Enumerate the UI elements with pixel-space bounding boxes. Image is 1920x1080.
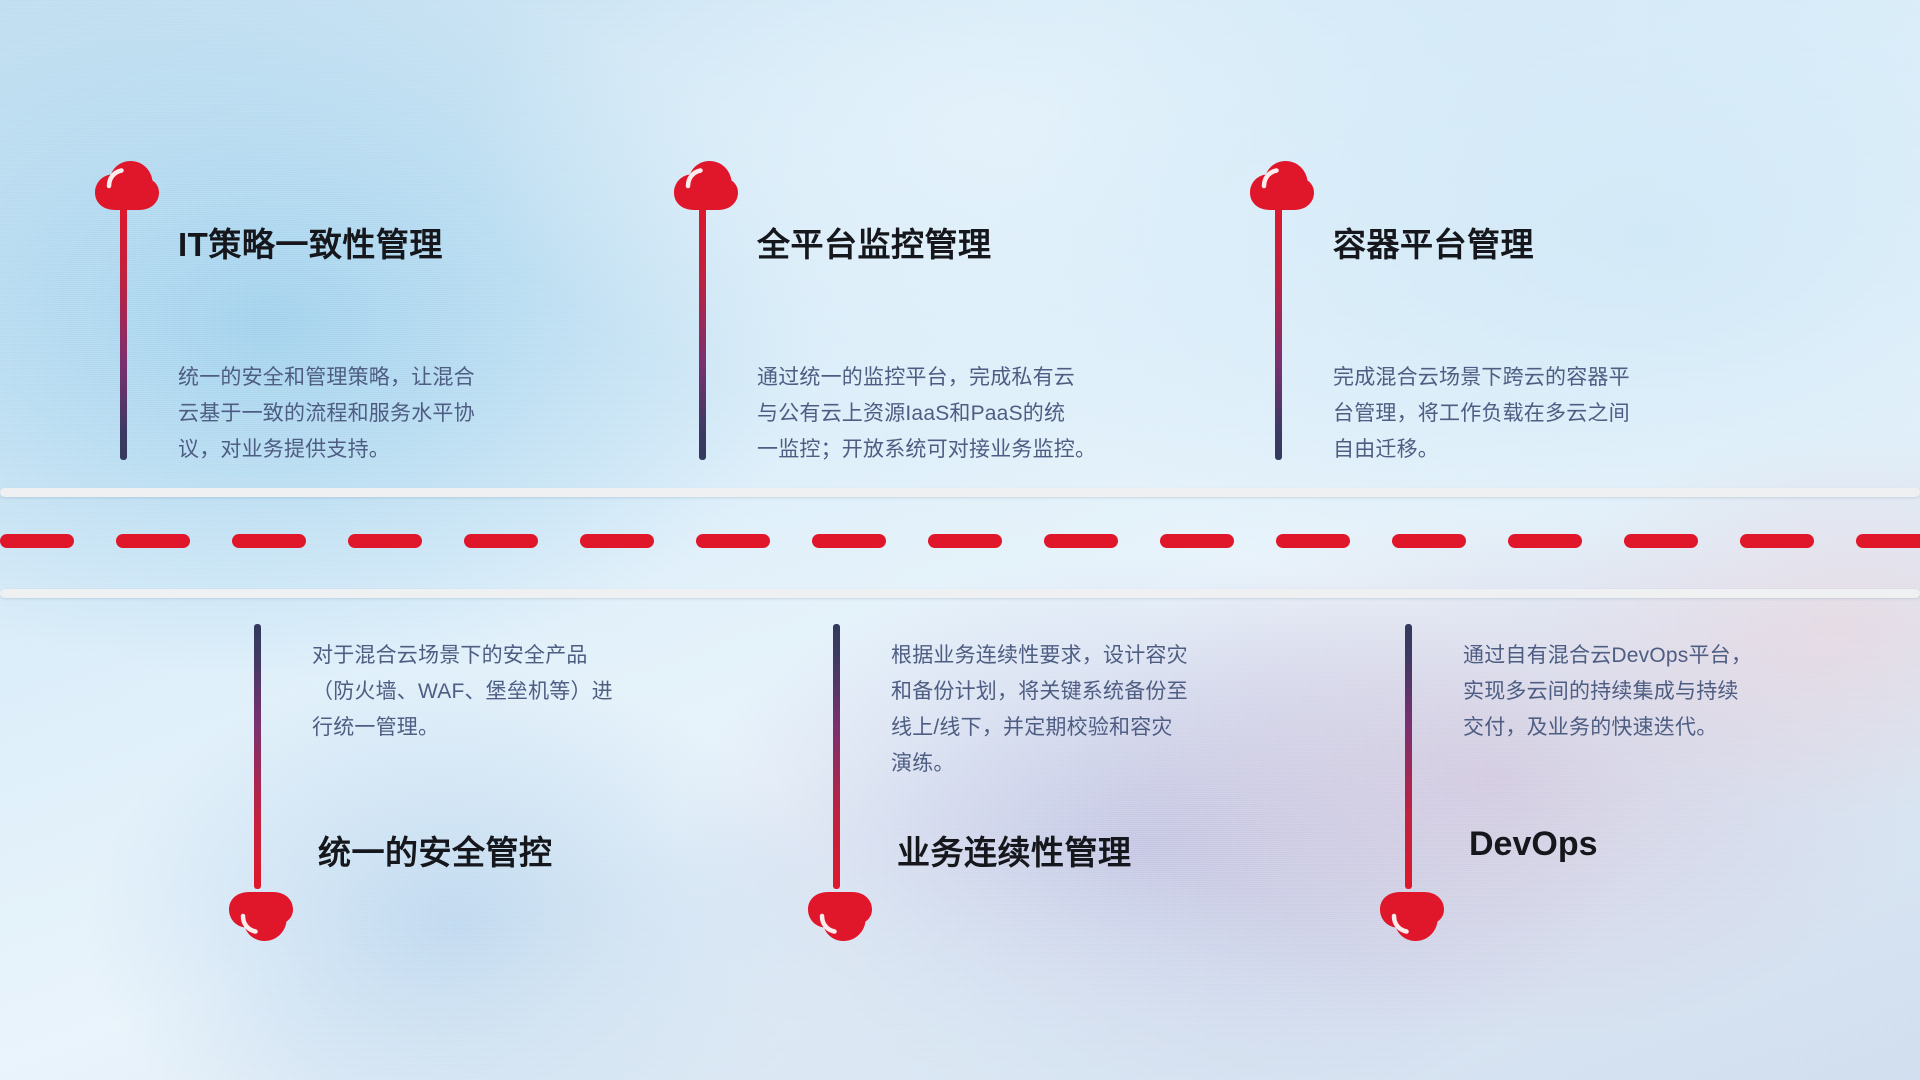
road-dash-segment: [1624, 534, 1698, 548]
card-body-text: 通过自有混合云DevOps平台， 实现多云间的持续集成与持续 交付，及业务的快速…: [1463, 638, 1863, 746]
card-body-text: 通过统一的监控平台，完成私有云 与公有云上资源IaaS和PaaS的统 一监控；开…: [757, 360, 1157, 468]
road-dash-segment: [464, 534, 538, 548]
card-body-text: 根据业务连续性要求，设计容灾 和备份计划，将关键系统备份至 线上/线下，并定期校…: [891, 638, 1291, 782]
card-heading: 业务连续性管理: [897, 826, 1132, 874]
body-line: 统一的安全和管理策略，让混合: [178, 360, 578, 396]
cloud-pin-icon: [806, 890, 872, 942]
connector-stem: [699, 205, 706, 460]
card-heading: 容器平台管理: [1333, 218, 1534, 266]
card-heading: 全平台监控管理: [757, 218, 992, 266]
cloud-pin-icon: [93, 160, 159, 212]
road-dash-segment: [1740, 534, 1814, 548]
road-dash-segment: [232, 534, 306, 548]
cloud-pin-icon: [227, 890, 293, 942]
card-heading: DevOps: [1469, 825, 1598, 864]
road-dash-segment: [1392, 534, 1466, 548]
body-line: 通过自有混合云DevOps平台，: [1463, 638, 1863, 674]
road-dash-segment: [580, 534, 654, 548]
body-line: 根据业务连续性要求，设计容灾: [891, 638, 1291, 674]
body-line: 演练。: [891, 746, 1291, 782]
body-line: 一监控；开放系统可对接业务监控。: [757, 432, 1157, 468]
road-dash-segment: [928, 534, 1002, 548]
body-line: 和备份计划，将关键系统备份至: [891, 674, 1291, 710]
road-dash-segment: [116, 534, 190, 548]
body-line: 与公有云上资源IaaS和PaaS的统: [757, 396, 1157, 432]
road-edge-line-top: [0, 488, 1920, 497]
body-line: 云基于一致的流程和服务水平协: [178, 396, 578, 432]
connector-stem: [254, 624, 261, 889]
connector-stem: [120, 205, 127, 460]
connector-stem: [1405, 624, 1412, 889]
connector-stem: [1275, 205, 1282, 460]
road-center-dashed-line: [0, 534, 1920, 548]
road-dash-segment: [1276, 534, 1350, 548]
road-dash-segment: [1508, 534, 1582, 548]
cloud-pin-icon: [672, 160, 738, 212]
body-line: 完成混合云场景下跨云的容器平: [1333, 360, 1733, 396]
body-line: 实现多云间的持续集成与持续: [1463, 674, 1863, 710]
card-heading: 统一的安全管控: [318, 826, 553, 874]
body-line: 行统一管理。: [312, 710, 712, 746]
road-dash-segment: [0, 534, 74, 548]
body-line: 交付，及业务的快速迭代。: [1463, 710, 1863, 746]
card-body-text: 完成混合云场景下跨云的容器平 台管理，将工作负载在多云之间 自由迁移。: [1333, 360, 1733, 468]
road-dash-segment: [696, 534, 770, 548]
road-edge-line-bottom: [0, 589, 1920, 598]
connector-stem: [833, 624, 840, 889]
road-dash-segment: [1044, 534, 1118, 548]
road-dash-segment: [348, 534, 422, 548]
body-line: 线上/线下，并定期校验和容灾: [891, 710, 1291, 746]
road-divider: [0, 488, 1920, 598]
cloud-pin-icon: [1248, 160, 1314, 212]
body-line: 台管理，将工作负载在多云之间: [1333, 396, 1733, 432]
body-line: 通过统一的监控平台，完成私有云: [757, 360, 1157, 396]
body-line: 议，对业务提供支持。: [178, 432, 578, 468]
body-line: （防火墙、WAF、堡垒机等）进: [312, 674, 712, 710]
cloud-pin-icon: [1378, 890, 1444, 942]
road-dash-segment: [1856, 534, 1920, 548]
road-dash-segment: [1160, 534, 1234, 548]
body-line: 自由迁移。: [1333, 432, 1733, 468]
card-heading: IT策略一致性管理: [178, 218, 443, 266]
card-body-text: 统一的安全和管理策略，让混合 云基于一致的流程和服务水平协 议，对业务提供支持。: [178, 360, 578, 468]
road-dash-segment: [812, 534, 886, 548]
card-body-text: 对于混合云场景下的安全产品 （防火墙、WAF、堡垒机等）进 行统一管理。: [312, 638, 712, 746]
body-line: 对于混合云场景下的安全产品: [312, 638, 712, 674]
